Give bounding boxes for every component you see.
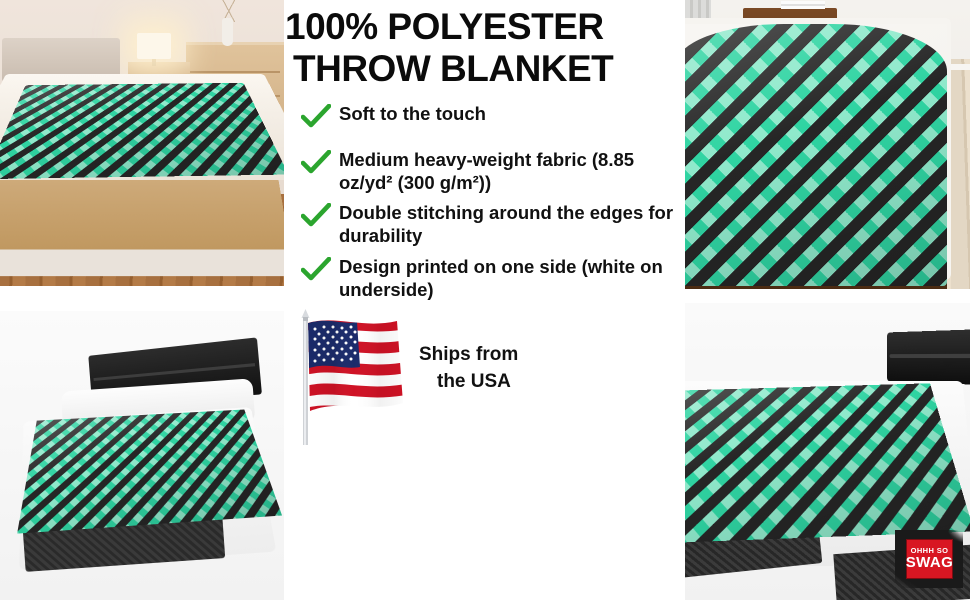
headline-line-1: 100% POLYESTER: [285, 6, 681, 48]
black-leather-headboard: [887, 329, 970, 384]
feature-item: Design printed on one side (white on und…: [293, 254, 681, 302]
logo-line-2: SWAG: [906, 555, 953, 571]
brand-watermark-logo: OHHH SO SWAG: [901, 535, 957, 583]
check-icon: [293, 200, 339, 229]
product-photo-blanket-closeup[interactable]: [685, 0, 970, 289]
usa-flag-icon: [291, 307, 411, 447]
headline-line-2: THROW BLANKET: [285, 48, 681, 90]
feature-label: Soft to the touch: [339, 101, 486, 125]
throw-blanket: [685, 24, 947, 286]
logo-plate: OHHH SO SWAG: [906, 539, 953, 579]
check-icon: [293, 101, 339, 130]
feature-label: Double stitching around the edges for du…: [339, 200, 681, 248]
product-photo-black-headboard-bed[interactable]: [0, 311, 284, 600]
feature-list: Soft to the touch Medium heavy-weight fa…: [285, 101, 681, 302]
shipping-line-2: the USA: [419, 368, 518, 396]
product-infographic: OHHH SO SWAG 100% POLYESTER THROW BLANKE…: [0, 0, 970, 600]
throw-blanket: [17, 410, 282, 534]
product-details-panel: 100% POLYESTER THROW BLANKET Soft to the…: [284, 0, 685, 600]
shipping-label: Ships from the USA: [411, 341, 518, 414]
feature-label: Design printed on one side (white on und…: [339, 254, 681, 302]
blanket-shading: [0, 83, 284, 179]
feature-item: Double stitching around the edges for du…: [293, 200, 681, 248]
blanket-shading: [17, 410, 282, 534]
throw-blanket: [685, 383, 970, 544]
check-icon: [293, 147, 339, 176]
throw-blanket: [0, 83, 284, 179]
product-photo-bedroom-wooden-bed[interactable]: [0, 0, 284, 286]
feature-item: Medium heavy-weight fabric (8.85 oz/yd² …: [293, 147, 681, 195]
blanket-shading: [685, 24, 947, 286]
feature-label: Medium heavy-weight fabric (8.85 oz/yd² …: [339, 147, 681, 195]
blanket-shading: [685, 383, 970, 544]
check-icon: [293, 254, 339, 283]
books: [781, 1, 825, 9]
feature-item: Soft to the touch: [293, 101, 681, 130]
vase: [222, 18, 233, 46]
shipping-info: Ships from the USA: [285, 307, 681, 447]
table-lamp: [137, 33, 171, 59]
shipping-line-1: Ships from: [419, 344, 518, 365]
page-title: 100% POLYESTER THROW BLANKET: [285, 6, 681, 90]
